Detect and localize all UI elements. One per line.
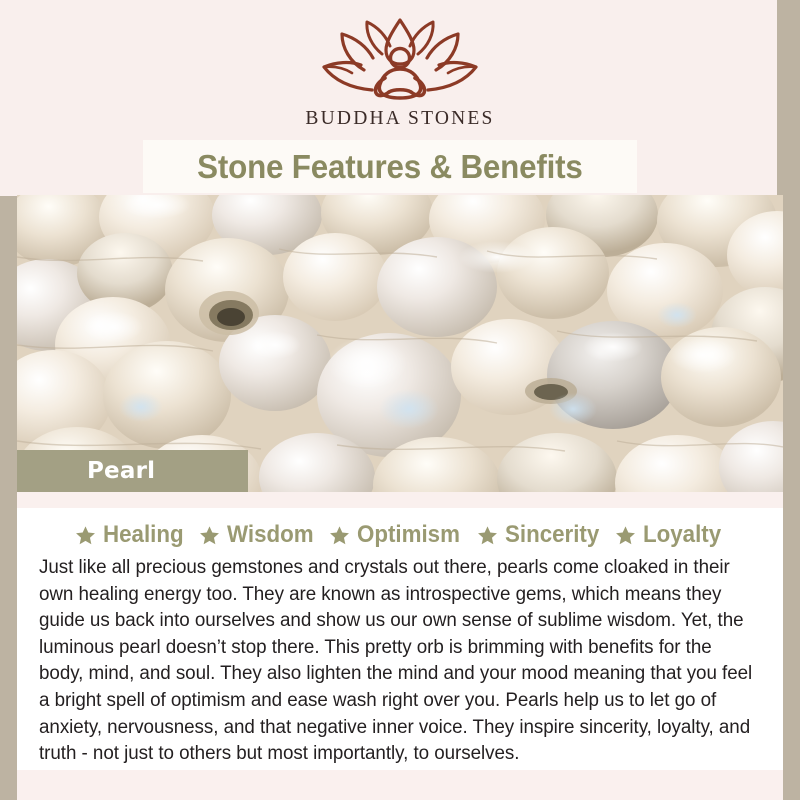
star-icon — [477, 525, 498, 546]
poster-root: BUDDHA STONES Stone Features & Benefits — [0, 0, 800, 800]
keyword-label: Loyalty — [643, 521, 721, 549]
keyword-item: Wisdom — [199, 521, 320, 549]
star-icon — [329, 525, 350, 546]
description-text: Just like all precious gemstones and cry… — [39, 555, 761, 768]
description-card: Healing Wisdom Optimism Sincerity — [17, 508, 783, 780]
keyword-item: Optimism — [329, 521, 468, 549]
keyword-label: Wisdom — [227, 521, 314, 549]
page-title: Stone Features & Benefits — [197, 148, 582, 186]
keyword-list: Healing Wisdom Optimism Sincerity — [39, 516, 763, 554]
stone-name-bar: Pearl — [17, 450, 248, 492]
keyword-item: Healing — [75, 521, 190, 549]
stone-name: Pearl — [87, 458, 155, 484]
lotus-meditation-figure-icon — [310, 14, 490, 106]
keyword-item: Loyalty — [615, 521, 727, 549]
star-icon — [199, 525, 220, 546]
star-icon — [75, 525, 96, 546]
stone-photo — [17, 195, 783, 492]
keyword-label: Sincerity — [505, 521, 599, 549]
divider-strip — [17, 492, 783, 508]
brand-name: BUDDHA STONES — [305, 108, 494, 130]
bottom-strip — [17, 770, 783, 800]
keyword-item: Sincerity — [477, 521, 606, 549]
title-banner: Stone Features & Benefits — [143, 140, 637, 193]
pearls-illustration — [17, 195, 783, 492]
star-icon — [615, 525, 636, 546]
brand-logo: BUDDHA STONES — [0, 14, 800, 130]
keyword-label: Healing — [103, 521, 184, 549]
keyword-label: Optimism — [357, 521, 460, 549]
